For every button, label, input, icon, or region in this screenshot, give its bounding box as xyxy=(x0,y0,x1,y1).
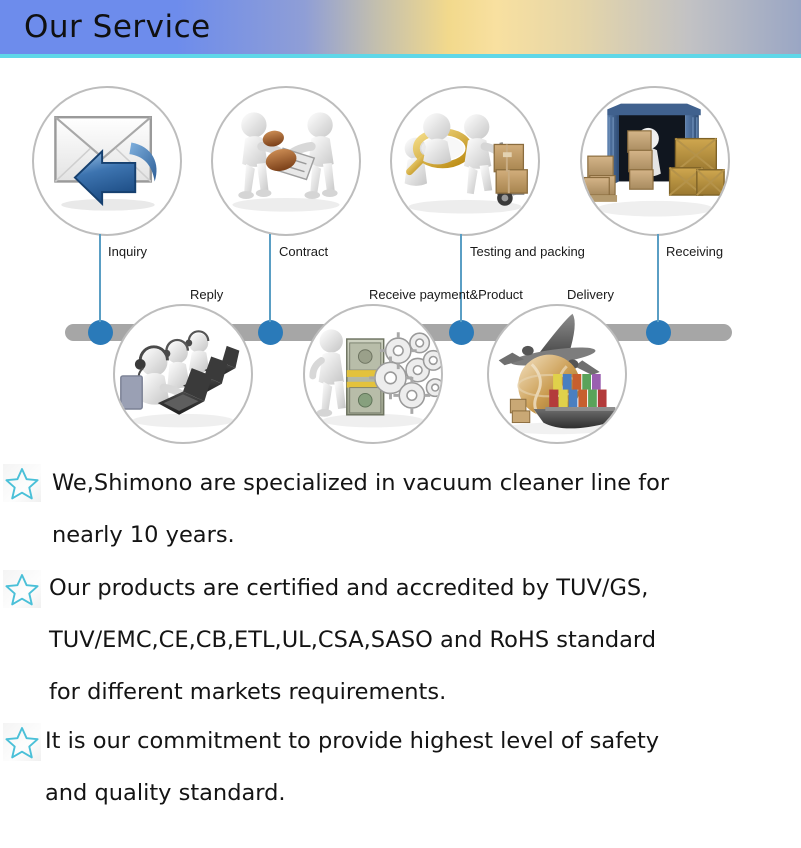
timeline-dot-3[interactable] xyxy=(258,320,283,345)
payment-gears-icon xyxy=(305,306,441,442)
process-circle-delivery xyxy=(487,304,627,444)
timeline-label-delivery: Delivery xyxy=(567,287,614,302)
process-circle-testing-packing xyxy=(390,86,540,236)
page-header-banner: Our Service xyxy=(0,0,801,58)
timeline-label-receiving: Receiving xyxy=(666,244,723,259)
star-outline-glyph xyxy=(3,464,41,502)
process-circle-inquiry xyxy=(32,86,182,236)
timeline-label-receive-payment-product: Receive payment&Product xyxy=(369,287,523,302)
process-circle-reply xyxy=(113,304,253,444)
timeline-dot-5[interactable] xyxy=(449,320,474,345)
bullet-3-line-2: and quality standard. xyxy=(45,780,286,806)
timeline-dot-1[interactable] xyxy=(88,320,113,345)
timeline-dot-7[interactable] xyxy=(646,320,671,345)
shipping-container-icon xyxy=(582,88,728,234)
star-outline-glyph xyxy=(3,723,41,761)
envelope-reply-icon xyxy=(34,88,180,234)
star-outline-icon xyxy=(3,570,41,608)
testing-packing-icon xyxy=(392,88,538,234)
page-title: Our Service xyxy=(24,4,211,50)
call-center-icon xyxy=(115,306,251,442)
bullet-1-line-2: nearly 10 years. xyxy=(52,522,235,548)
timeline-connector-inquiry xyxy=(99,234,101,322)
star-outline-icon xyxy=(3,464,41,502)
timeline-label-testing-and-packing: Testing and packing xyxy=(470,244,585,259)
process-circle-receive-payment-product xyxy=(303,304,443,444)
bullet-3-line-1: It is our commitment to provide highest … xyxy=(45,728,659,754)
star-outline-icon xyxy=(3,723,41,761)
bullet-2-line-3: for different markets requirements. xyxy=(49,679,446,705)
list-item: It is our commitment to provide highest … xyxy=(0,723,801,828)
contract-handshake-icon xyxy=(213,88,359,234)
list-item: Our products are certified and accredite… xyxy=(0,570,801,723)
service-process-diagram: Inquiry Contract Testing and packing Rec… xyxy=(0,62,801,462)
process-circle-contract xyxy=(211,86,361,236)
timeline-connector-receiving xyxy=(657,234,659,322)
list-item: We,Shimono are specialized in vacuum cle… xyxy=(0,462,801,570)
process-circle-receiving xyxy=(580,86,730,236)
timeline-connector-contract xyxy=(269,234,271,322)
bullet-2-line-2: TUV/EMC,CE,CB,ETL,UL,CSA,SASO and RoHS s… xyxy=(49,627,656,653)
bullet-2-line-1: Our products are certified and accredite… xyxy=(49,575,648,601)
timeline-connector-testing xyxy=(460,234,462,322)
timeline-label-reply: Reply xyxy=(190,287,223,302)
timeline-label-contract: Contract xyxy=(279,244,328,259)
service-highlights-list: We,Shimono are specialized in vacuum cle… xyxy=(0,462,801,828)
bullet-1-line-1: We,Shimono are specialized in vacuum cle… xyxy=(52,470,669,496)
timeline-label-inquiry: Inquiry xyxy=(108,244,147,259)
star-outline-glyph xyxy=(3,570,41,608)
air-sea-freight-icon xyxy=(489,306,625,442)
